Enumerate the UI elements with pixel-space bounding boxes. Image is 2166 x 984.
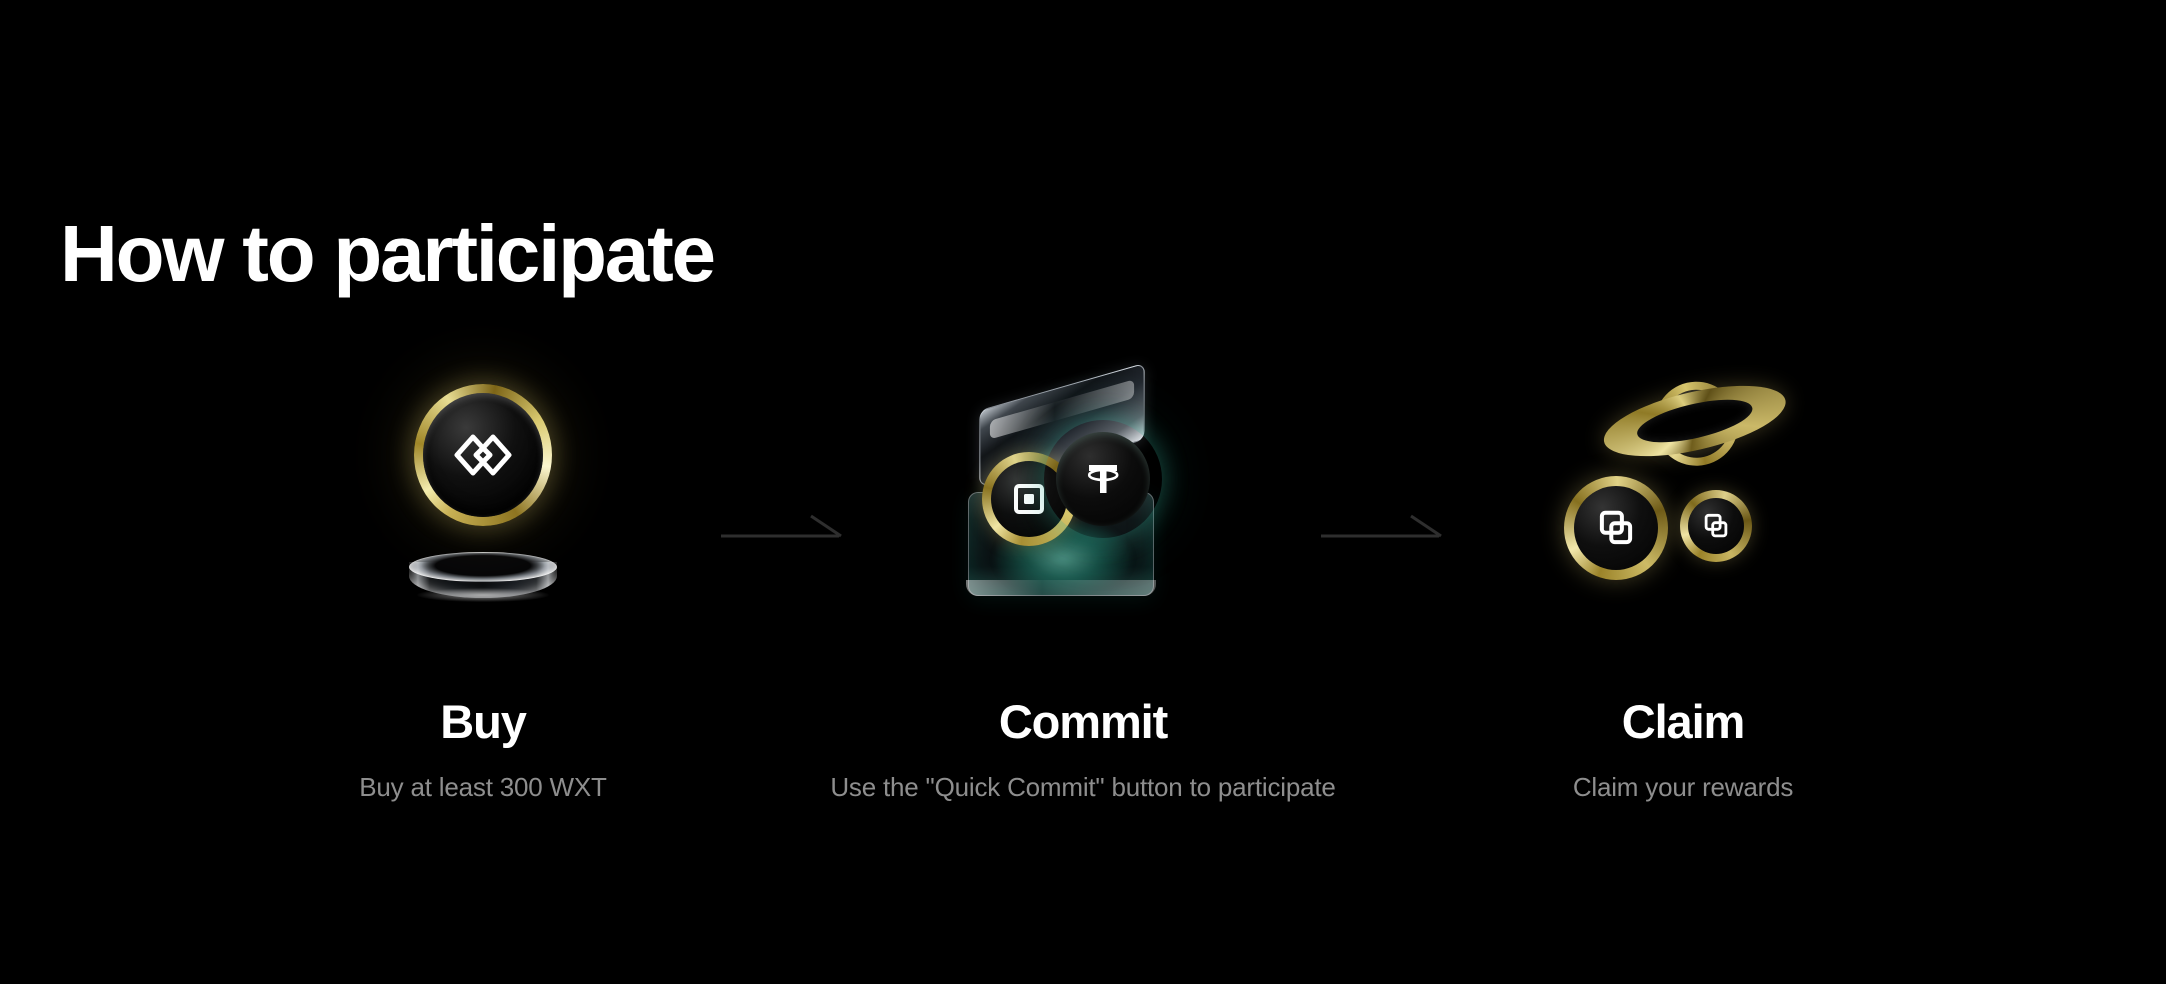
step-commit: Commit Use the "Quick Commit" button to … <box>783 380 1383 800</box>
page-title: How to participate <box>60 214 714 294</box>
rewards-logo-icon <box>1702 512 1730 540</box>
step-claim: Claim Claim your rewards <box>1383 380 1983 800</box>
chest-front-edge <box>966 580 1156 596</box>
step-commit-illustration <box>903 380 1263 610</box>
step-commit-title: Commit <box>999 698 1167 745</box>
step-claim-illustration <box>1503 380 1863 610</box>
wx-logo-icon <box>414 384 552 526</box>
coin-face <box>1688 498 1744 554</box>
rewards-logo-icon <box>1596 508 1636 548</box>
wx-coin-icon <box>414 384 552 526</box>
how-to-participate-section: How to participate <box>0 0 2166 984</box>
step-buy-description: Buy at least 300 WXT <box>359 774 606 800</box>
coin-face <box>1574 486 1658 570</box>
step-claim-description: Claim your rewards <box>1573 774 1793 800</box>
step-buy-illustration <box>303 380 663 610</box>
step-buy-title: Buy <box>440 698 526 745</box>
coin-face <box>1056 432 1150 526</box>
reward-coin-icon <box>1564 476 1668 580</box>
wx-square-logo-icon <box>1012 482 1046 516</box>
saturn-ring-icon <box>1595 362 1794 482</box>
reward-coin-icon <box>1680 490 1752 562</box>
tether-t-logo-icon <box>1081 457 1125 501</box>
step-claim-title: Claim <box>1622 698 1745 745</box>
pedestal-top <box>409 552 557 582</box>
step-commit-description: Use the "Quick Commit" button to partici… <box>830 774 1335 800</box>
pedestal-glow <box>417 588 549 602</box>
usdt-coin-icon <box>1044 420 1162 538</box>
glass-pedestal-icon <box>409 552 557 604</box>
gold-coin-on-pedestal-icon <box>383 380 583 610</box>
step-buy: Buy Buy at least 300 WXT <box>183 380 783 800</box>
gold-coins-with-ring-icon <box>1558 380 1808 610</box>
steps-row: Buy Buy at least 300 WXT <box>0 380 2166 880</box>
glass-chest-icon <box>958 380 1208 610</box>
